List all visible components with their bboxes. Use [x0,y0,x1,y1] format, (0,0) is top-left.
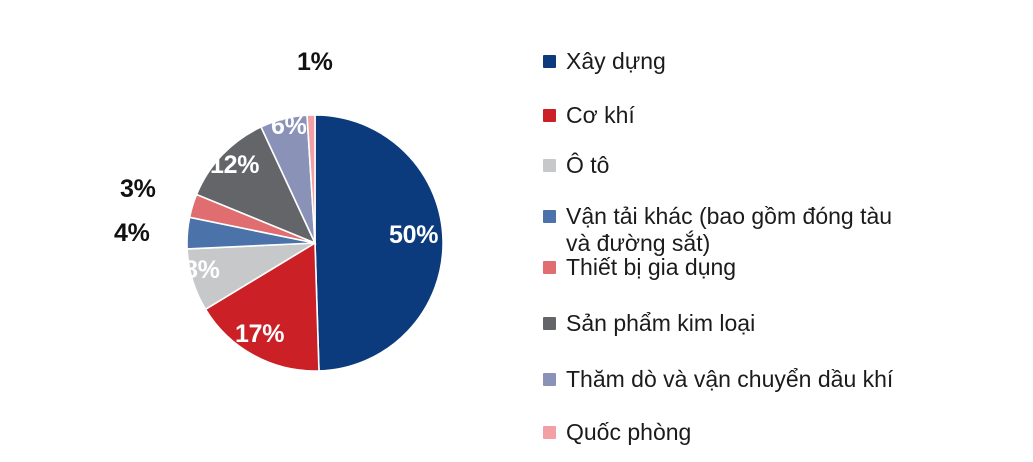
pie-data-label: 3% [120,177,156,202]
legend-item[interactable]: Ô tô [543,152,609,179]
legend-item[interactable]: Cơ khí [543,102,635,129]
legend-item[interactable]: Thiết bị gia dụng [543,254,736,281]
legend-item-label: Xây dựng [566,48,666,75]
legend-item[interactable]: Quốc phòng [543,419,691,446]
legend-item-label: Cơ khí [566,102,635,129]
pie-data-label: 17% [235,322,284,347]
pie-data-label: 6% [271,114,307,139]
legend-item[interactable]: Vận tải khác (bao gồm đóng tàu và đường … [543,203,911,256]
legend-item[interactable]: Sản phẩm kim loại [543,310,755,337]
legend-item-label: Thiết bị gia dụng [566,254,736,281]
legend-item-label: Vận tải khác (bao gồm đóng tàu và đường … [566,203,911,256]
legend-item[interactable]: Xây dựng [543,48,666,75]
legend-item[interactable]: Thăm dò và vận chuyển dầu khí [543,366,893,393]
legend-swatch-icon [543,159,556,172]
legend-swatch-icon [543,55,556,68]
pie-data-label: 8% [184,258,220,283]
legend-swatch-icon [543,373,556,386]
legend-swatch-icon [543,426,556,439]
legend-swatch-icon [543,261,556,274]
legend-item-label: Sản phẩm kim loại [566,310,755,337]
legend-swatch-icon [543,210,556,223]
legend-item-label: Thăm dò và vận chuyển dầu khí [566,366,893,393]
pie-chart-figure: 50%17%8%4%3%12%6%1% Xây dựngCơ khíÔ tôVậ… [0,0,1033,462]
pie-data-label: 4% [114,221,150,246]
pie-chart-plot-area: 50%17%8%4%3%12%6%1% [0,0,520,462]
chart-legend: Xây dựngCơ khíÔ tôVận tải khác (bao gồm … [543,22,1013,452]
pie-chart-svg [0,0,520,462]
legend-swatch-icon [543,317,556,330]
legend-item-label: Quốc phòng [566,419,691,446]
pie-data-label: 12% [210,153,259,178]
legend-swatch-icon [543,109,556,122]
pie-data-label: 1% [297,50,333,75]
legend-item-label: Ô tô [566,152,609,179]
pie-data-label: 50% [389,223,438,248]
